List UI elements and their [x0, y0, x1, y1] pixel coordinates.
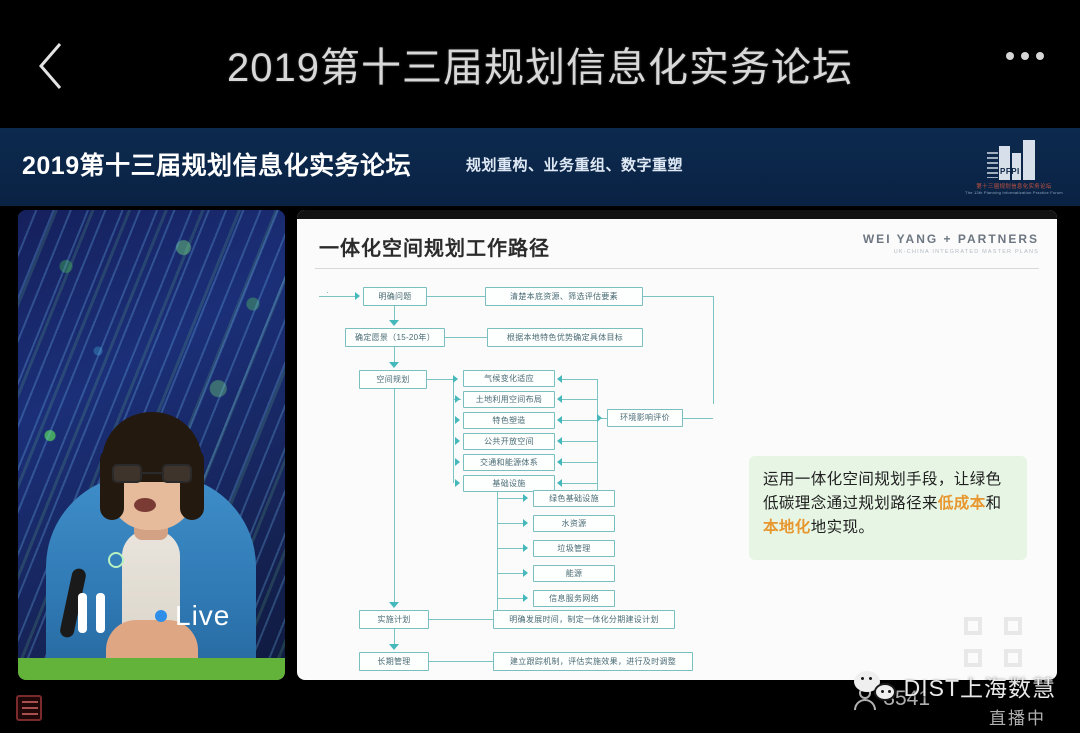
- pause-icon: [96, 593, 105, 633]
- callout-line-1: 运用一体化空间规划手段，让: [763, 471, 970, 488]
- logo-dots-icon: [987, 152, 998, 178]
- flow-node: 确定愿景（15-20年）: [345, 328, 445, 347]
- event-banner-title: 2019第十三届规划信息化实务论坛: [22, 146, 411, 182]
- flow-node-note: 清楚本底资源、筛选评估要素: [485, 287, 643, 306]
- flow-node: 长期管理: [359, 652, 429, 671]
- flow-node-note: 明确发展时间，制定一体化分期建设计划: [493, 610, 675, 629]
- slide-callout: 运用一体化空间规划手段，让绿色低碳理念通过规划路径来低成本和本地化地实现。: [749, 456, 1027, 560]
- speaker-video-panel[interactable]: Live: [18, 210, 285, 680]
- event-banner-subtitle: 规划重构、业务重组、数字重塑: [466, 154, 683, 175]
- flow-node: 气候变化适应: [463, 370, 555, 387]
- flow-node: 公共开放空间: [463, 433, 555, 450]
- live-status-label: 直播中: [989, 704, 1046, 729]
- flow-node: 实施计划: [359, 610, 429, 629]
- flow-node: 明确问题: [363, 287, 427, 306]
- flow-node: 交通和能源体系: [463, 454, 555, 471]
- live-dot-icon: [155, 610, 167, 622]
- live-label: Live: [175, 600, 230, 632]
- flow-node: 土地利用空间布局: [463, 391, 555, 408]
- event-banner: 2019第十三届规划信息化实务论坛 规划重构、业务重组、数字重塑 PFPI 第十…: [0, 128, 1080, 206]
- slide-title: 一体化空间规划工作路径: [319, 232, 550, 261]
- wechat-icon: [854, 671, 896, 701]
- fullscreen-button[interactable]: [964, 617, 1022, 667]
- callout-tail: 地实现。: [811, 519, 875, 536]
- callout-highlight-2: 本地化: [763, 519, 811, 536]
- flow-node-note: 建立跟踪机制，评估实施效果，进行及时调整: [493, 652, 693, 671]
- logo-mark-text: PFPI: [1000, 167, 1020, 176]
- more-dots-icon: [1021, 52, 1029, 60]
- more-dots-icon: [1006, 52, 1014, 60]
- flow-node: 水资源: [533, 515, 615, 532]
- glasses-icon: [112, 464, 192, 484]
- flow-node: 特色塑造: [463, 412, 555, 429]
- forum-logo: PFPI 第十三届规划信息化实务论坛 The 13th Planning Inf…: [966, 134, 1062, 200]
- more-options-button[interactable]: [1006, 52, 1044, 60]
- slide-divider: [315, 268, 1039, 269]
- channel-watermark: DIST上海数慧: [854, 669, 1056, 703]
- callout-highlight-1: 低成本: [938, 495, 986, 512]
- stacked-card-icon[interactable]: [16, 695, 42, 721]
- lapel-badge-icon: [108, 552, 124, 568]
- callout-mid: 和: [986, 495, 1002, 512]
- fullscreen-icon: [964, 617, 982, 635]
- more-dots-icon: [1036, 52, 1044, 60]
- logo-en-text: The 13th Planning Informatization Practi…: [965, 190, 1063, 195]
- top-navbar: 2019第十三届规划信息化实务论坛: [0, 0, 1080, 128]
- slide-brand-tagline: UK-CHINA INTEGRATED MASTER PLANS: [863, 249, 1039, 255]
- watermark-text: DIST上海数慧: [904, 669, 1056, 703]
- live-stream-stage[interactable]: 2019第十三届规划信息化实务论坛 规划重构、业务重组、数字重塑 PFPI 第十…: [0, 128, 1080, 733]
- flow-node: 垃圾管理: [533, 540, 615, 557]
- live-indicator[interactable]: Live: [155, 600, 230, 632]
- flow-node: 信息服务网络: [533, 590, 615, 607]
- fullscreen-icon: [1004, 617, 1022, 635]
- slide-brand: WEI YANG + PARTNERS UK-CHINA INTEGRATED …: [863, 232, 1039, 255]
- video-progress-fill: [18, 658, 285, 680]
- pause-button[interactable]: [76, 592, 106, 634]
- app-screen: 2019第十三届规划信息化实务论坛 2019第十三届规划信息化实务论坛 规划重构…: [0, 0, 1080, 733]
- logo-cn-text: 第十三届规划信息化实务论坛: [976, 182, 1051, 190]
- slide-topbar: [297, 210, 1057, 219]
- slide-brand-name: WEI YANG + PARTNERS: [863, 232, 1039, 246]
- flow-node-note: 根据本地特色优势确定具体目标: [487, 328, 643, 347]
- flow-node: 绿色基础设施: [533, 490, 615, 507]
- page-title: 2019第十三届规划信息化实务论坛: [0, 0, 1080, 128]
- building-logo-icon: PFPI: [983, 140, 1045, 180]
- flow-node: 空间规划: [359, 370, 427, 389]
- presentation-slide[interactable]: 一体化空间规划工作路径 WEI YANG + PARTNERS UK-CHINA…: [297, 210, 1057, 680]
- flow-node-assessment: 环境影响评价: [607, 409, 683, 427]
- flow-node: 能源: [533, 565, 615, 582]
- pause-icon: [78, 593, 87, 633]
- video-progress-bar[interactable]: [18, 658, 285, 680]
- fullscreen-icon: [1004, 649, 1022, 667]
- fullscreen-icon: [964, 649, 982, 667]
